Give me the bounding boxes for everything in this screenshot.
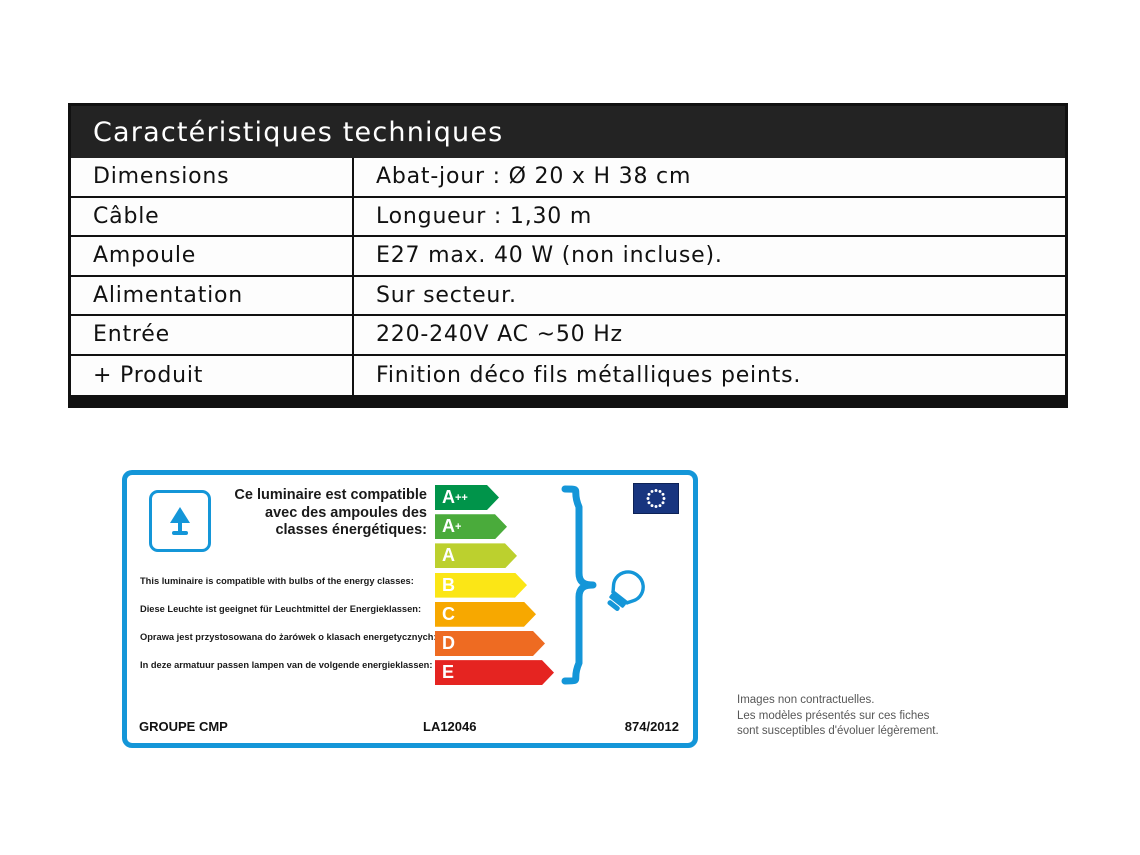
energy-class-letter: D xyxy=(442,633,455,654)
energy-label-body: Ce luminaire est compatible avec des amp… xyxy=(127,475,693,693)
light-bulb-icon xyxy=(597,563,653,619)
row-label: + Produit xyxy=(71,356,352,396)
energy-class-letter: E xyxy=(442,662,454,683)
table-lamp-icon xyxy=(149,490,211,552)
language-lines: This luminaire is compatible with bulbs … xyxy=(140,567,440,679)
energy-class-arrow: C xyxy=(435,602,536,627)
row-value: E27 max. 40 W (non incluse). xyxy=(354,237,1065,275)
energy-class-arrows: A++ A+ A B C D E xyxy=(435,485,555,689)
row-value: Abat-jour : Ø 20 x H 38 cm xyxy=(354,158,1065,196)
footer-reference: LA12046 xyxy=(423,719,476,734)
eu-flag-icon xyxy=(633,483,679,514)
disclaimer-text: Images non contractuelles. Les modèles p… xyxy=(737,693,939,740)
energy-class-label: Ce luminaire est compatible avec des amp… xyxy=(122,470,698,748)
table-row: Dimensions Abat-jour : Ø 20 x H 38 cm xyxy=(71,158,1065,198)
disclaimer-line-1: Images non contractuelles. xyxy=(737,693,939,709)
energy-class-letter: A xyxy=(442,487,455,508)
energy-class-arrow: D xyxy=(435,631,545,656)
footer-regulation: 874/2012 xyxy=(625,719,679,734)
table-row: + Produit Finition déco fils métalliques… xyxy=(71,356,1065,396)
language-line-de: Diese Leuchte ist geeignet für Leuchtmit… xyxy=(140,595,440,623)
language-line-pl: Oprawa jest przystosowana do żarówek o k… xyxy=(140,623,440,651)
table-header: Caractéristiques techniques xyxy=(71,106,1065,158)
disclaimer-line-3: sont susceptibles d'évoluer légèrement. xyxy=(737,724,939,740)
table-row: Alimentation Sur secteur. xyxy=(71,277,1065,317)
energy-class-letter: A xyxy=(442,516,455,537)
energy-label-footer: GROUPE CMP LA12046 874/2012 xyxy=(127,709,693,743)
energy-class-arrow: A+ xyxy=(435,514,507,539)
energy-class-arrow: A xyxy=(435,543,517,568)
row-value: 220-240V AC ~50 Hz xyxy=(354,316,1065,354)
table-body: Dimensions Abat-jour : Ø 20 x H 38 cm Câ… xyxy=(71,158,1065,395)
french-compatibility-text: Ce luminaire est compatible avec des amp… xyxy=(227,487,427,540)
footer-brand: GROUPE CMP xyxy=(139,719,228,734)
energy-class-letter: A xyxy=(442,545,455,566)
energy-class-arrow: E xyxy=(435,660,554,685)
row-label: Ampoule xyxy=(71,237,352,275)
row-value: Longueur : 1,30 m xyxy=(354,198,1065,236)
energy-class-arrow: B xyxy=(435,573,527,598)
row-label: Alimentation xyxy=(71,277,352,315)
technical-characteristics-table: Caractéristiques techniques Dimensions A… xyxy=(68,103,1068,408)
table-title: Caractéristiques techniques xyxy=(93,117,503,148)
energy-class-letter: B xyxy=(442,575,455,596)
row-value: Sur secteur. xyxy=(354,277,1065,315)
row-value: Finition déco fils métalliques peints. xyxy=(354,356,1065,396)
curly-brace-icon xyxy=(559,485,601,685)
table-row: Entrée 220-240V AC ~50 Hz xyxy=(71,316,1065,356)
row-label: Câble xyxy=(71,198,352,236)
row-label: Entrée xyxy=(71,316,352,354)
row-label: Dimensions xyxy=(71,158,352,196)
table-row: Câble Longueur : 1,30 m xyxy=(71,198,1065,238)
language-line-nl: In deze armatuur passen lampen van de vo… xyxy=(140,651,440,679)
energy-class-letter: C xyxy=(442,604,455,625)
disclaimer-line-2: Les modèles présentés sur ces fiches xyxy=(737,709,939,725)
table-row: Ampoule E27 max. 40 W (non incluse). xyxy=(71,237,1065,277)
energy-class-arrow: A++ xyxy=(435,485,499,510)
language-line-en: This luminaire is compatible with bulbs … xyxy=(140,567,440,595)
